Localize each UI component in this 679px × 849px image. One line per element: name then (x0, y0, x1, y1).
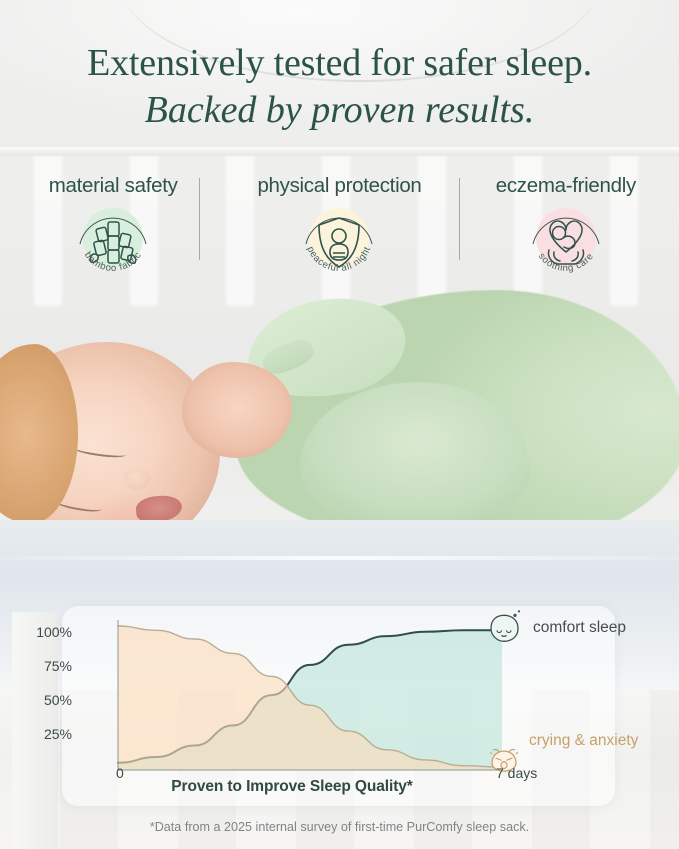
badge-title: eczema-friendly (453, 174, 679, 198)
chart-caption: Proven to Improve Sleep Quality* (62, 778, 522, 796)
infographic-stage: Extensively tested for safer sleep. Back… (0, 0, 679, 849)
footnote: *Data from a 2025 internal survey of fir… (0, 820, 679, 834)
mattress-edge (0, 556, 679, 560)
badge-divider-2 (459, 178, 460, 260)
baby-eye-upper (72, 442, 127, 459)
headline-line-2: Backed by proven results. (0, 86, 679, 134)
y-tick-100: 100% (26, 624, 72, 640)
bamboo-emblem: bamboo fabric (70, 200, 156, 286)
soothing-emblem: soothing care (523, 200, 609, 286)
y-tick-75: 75% (26, 658, 72, 674)
legend-comfort-sleep: comfort sleep (533, 618, 626, 637)
feature-badges: material safety (0, 174, 679, 290)
badge-caption: bamboo fabric (82, 250, 144, 274)
legend-crying-anxiety: crying & anxiety (529, 731, 638, 750)
badge-caption: soothing care (536, 251, 596, 274)
page-title: Extensively tested for safer sleep. Back… (0, 40, 679, 134)
badge-material-safety: material safety (0, 174, 226, 290)
headline-line-1: Extensively tested for safer sleep. (0, 40, 679, 86)
baby-nose (124, 468, 150, 490)
y-tick-50: 50% (26, 692, 72, 708)
legend-label-crying: crying & anxiety (529, 732, 638, 749)
badge-title: physical protection (226, 174, 452, 198)
baby-hand (182, 362, 292, 458)
sleeping-baby-face-icon (491, 610, 520, 641)
bamboo-icon: bamboo fabric (70, 200, 156, 286)
legend-label-comfort: comfort sleep (533, 619, 626, 636)
badge-physical-protection: physical protection peaceful all night (226, 174, 452, 290)
heart-hands-baby-icon: soothing care (523, 200, 609, 286)
shield-baby-icon: peaceful all night (296, 200, 382, 286)
y-tick-25: 25% (26, 726, 72, 742)
badge-divider-1 (199, 178, 200, 260)
crib-rail (0, 147, 679, 156)
badge-eczema-friendly: eczema-friendly soothing c (453, 174, 679, 290)
badge-title: material safety (0, 174, 226, 198)
shield-emblem: peaceful all night (296, 200, 382, 286)
